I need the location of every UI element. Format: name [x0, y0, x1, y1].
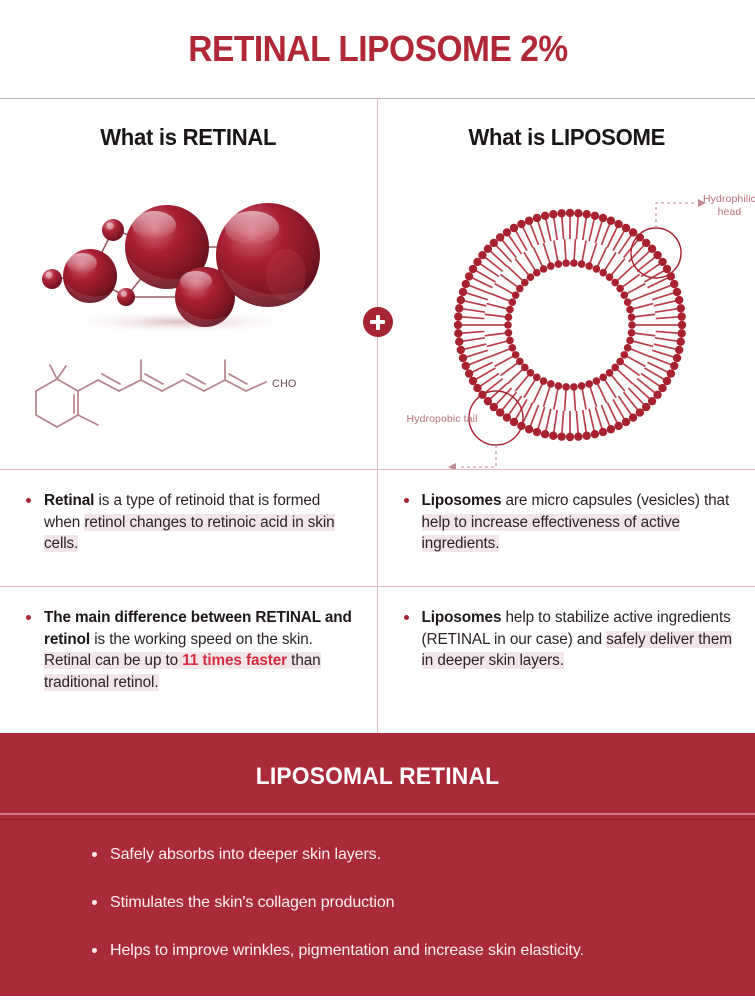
bullet-dot	[26, 498, 31, 503]
bullet-text: Liposomes help to stabilize active ingre…	[422, 609, 732, 669]
bullet-dot	[26, 615, 31, 620]
list-item-label: Safely absorbs into deeper skin layers.	[110, 846, 381, 863]
bullet-dot	[92, 900, 97, 905]
retinal-molecule-illustration: CHO CHO	[0, 175, 377, 469]
retinal-molecule-svg: CHO	[0, 175, 377, 469]
bullet-dot	[404, 615, 409, 620]
heading-what-is-retinal: What is RETINAL	[8, 99, 369, 175]
bullet-text: Liposomes are micro capsules (vesicles) …	[422, 492, 730, 552]
retinal-illustration-cell: CHO CHO	[0, 175, 378, 469]
illustrations-row: CHO CHO	[0, 175, 755, 469]
banner-benefits-list: Safely absorbs into deeper skin layers. …	[0, 820, 755, 962]
list-item-label: Helps to improve wrinkles, pigmentation …	[110, 942, 584, 959]
list-item-label: Stimulates the skin's collagen productio…	[110, 894, 394, 911]
bullet-liposome-stabilize: Liposomes help to stabilize active ingre…	[402, 607, 734, 672]
liposome-illustration-cell: Hydrophilic head Hydropobic tail	[378, 175, 755, 469]
right-bullets-1-cell: Liposomes are micro capsules (vesicles) …	[378, 470, 755, 586]
banner-divider	[0, 813, 755, 815]
infographic-page: RETINAL LIPOSOME 2% What is RETINAL What…	[0, 0, 755, 1000]
cho-label: CHO	[272, 378, 297, 390]
list-item: Safely absorbs into deeper skin layers.	[92, 844, 715, 866]
bullet-dot	[404, 498, 409, 503]
label-hydrophilic-head: Hydrophilic head	[700, 193, 755, 219]
bullet-dot	[92, 852, 97, 857]
bullet-dot	[92, 948, 97, 953]
bullets-row-1: Retinal is a type of retinoid that is fo…	[0, 470, 755, 586]
heading-what-is-liposome: What is LIPOSOME	[385, 99, 747, 175]
bullet-text: The main difference between RETINAL and …	[44, 609, 352, 691]
left-bullets-1-cell: Retinal is a type of retinoid that is fo…	[0, 470, 378, 586]
plus-icon-vertical	[376, 315, 380, 330]
bullets-row-2: The main difference between RETINAL and …	[0, 587, 755, 733]
page-title: RETINAL LIPOSOME 2%	[188, 28, 567, 70]
left-bullets-2-cell: The main difference between RETINAL and …	[0, 587, 378, 733]
banner-title: LIPOSOMAL RETINAL	[19, 733, 736, 813]
right-bullets-2-cell: Liposomes help to stabilize active ingre…	[378, 587, 755, 733]
bullet-text: Retinal is a type of retinoid that is fo…	[44, 492, 335, 552]
label-hydrophobic-tail: Hydropobic tail	[386, 413, 478, 426]
bullet-liposome-definition: Liposomes are micro capsules (vesicles) …	[402, 490, 734, 555]
bullet-retinal-difference: The main difference between RETINAL and …	[24, 607, 355, 694]
left-column-heading-cell: What is RETINAL	[0, 99, 378, 175]
plus-icon	[363, 307, 393, 337]
right-column-heading-cell: What is LIPOSOME	[378, 99, 755, 175]
liposomal-retinal-banner: LIPOSOMAL RETINAL Safely absorbs into de…	[0, 733, 755, 996]
page-title-bar: RETINAL LIPOSOME 2%	[0, 0, 755, 98]
bullet-retinal-definition: Retinal is a type of retinoid that is fo…	[24, 490, 355, 555]
column-headings-row: What is RETINAL What is LIPOSOME	[0, 99, 755, 175]
list-item: Helps to improve wrinkles, pigmentation …	[92, 940, 715, 962]
list-item: Stimulates the skin's collagen productio…	[92, 892, 715, 914]
liposome-bilayer-illustration: Hydrophilic head Hydropobic tail	[378, 175, 755, 469]
